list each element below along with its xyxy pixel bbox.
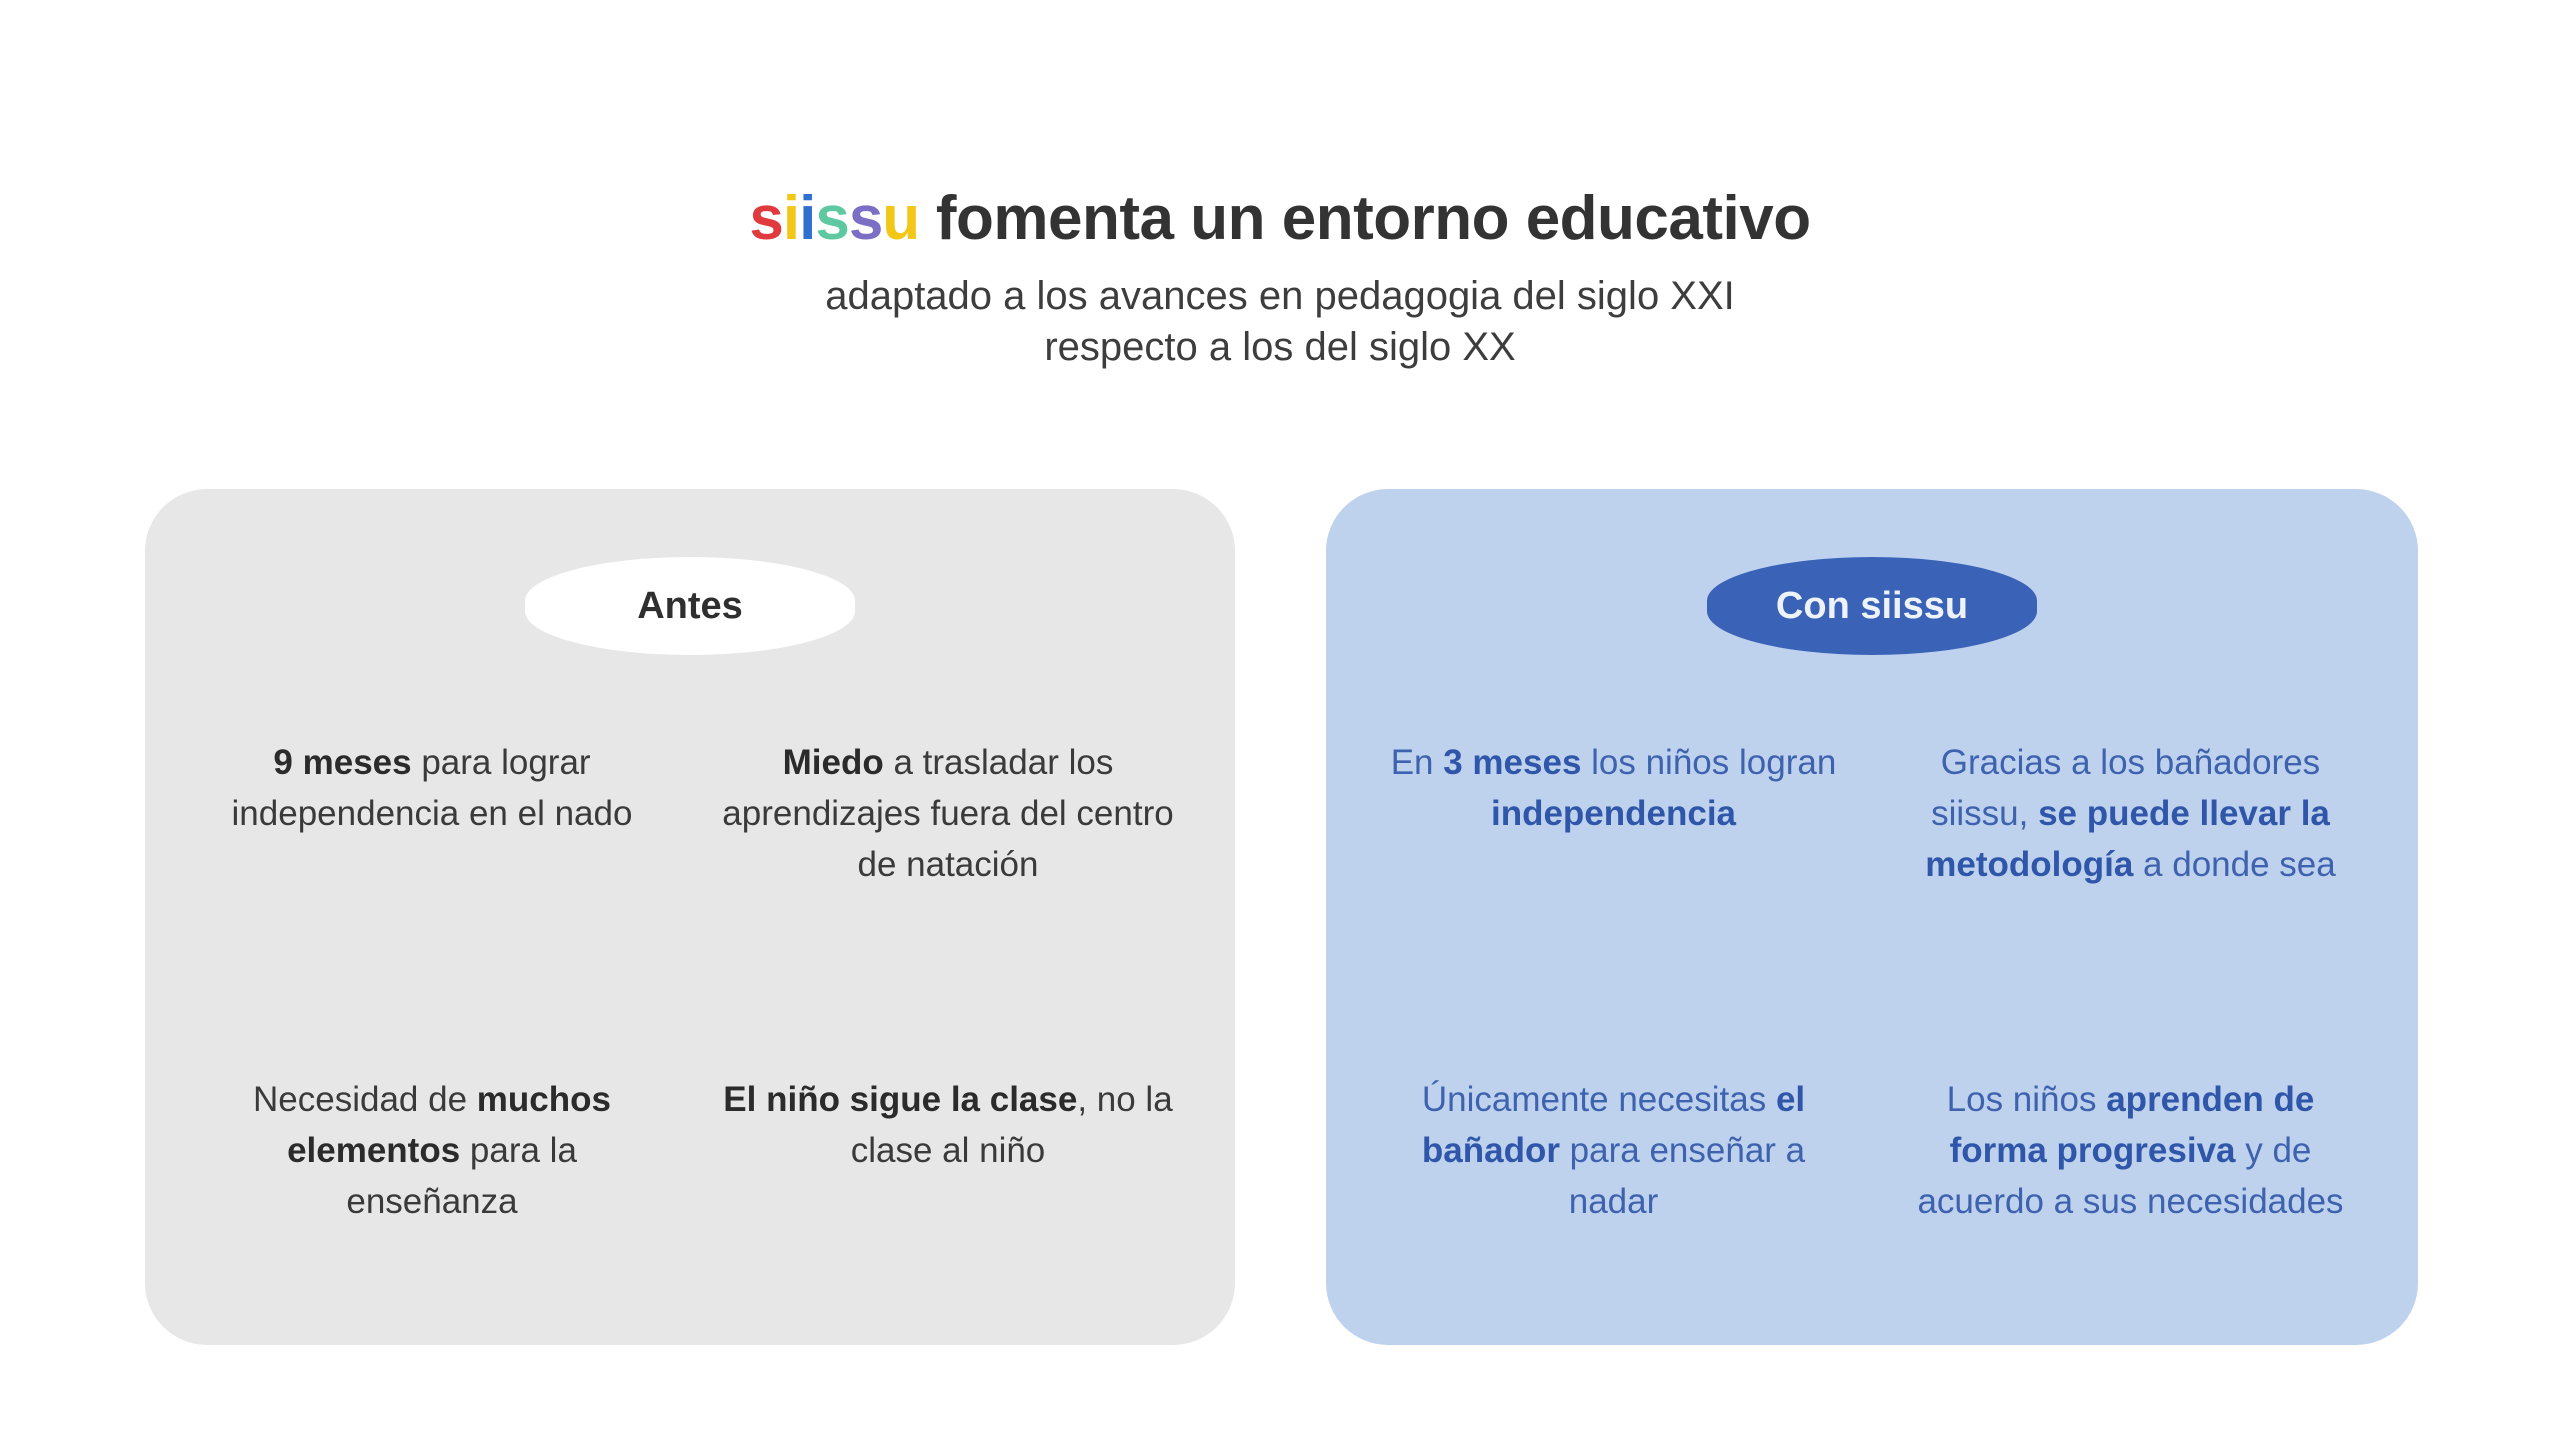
slide-canvas: siissu fomenta un entorno educativo adap… — [0, 0, 2560, 1440]
page-subtitle-line-1: adaptado a los avances en pedagogia del … — [0, 271, 2560, 322]
page-title-rest: fomenta un entorno educativo — [919, 184, 1810, 253]
card-antes: Antes 9 meses para lograr independencia … — [145, 489, 1235, 1345]
list-item: Los niños aprenden de forma progresiva y… — [1877, 1032, 2384, 1327]
list-item: El niño sigue la clase, no la clase al n… — [695, 1032, 1201, 1327]
card-con-siissu-pill-label: Con siissu — [1707, 557, 2037, 655]
page-subtitle: adaptado a los avances en pedagogia del … — [0, 271, 2560, 373]
item-independencia-9-meses: 9 meses para lograr independencia en el … — [197, 737, 667, 839]
list-item: Gracias a los bañadores siissu, se puede… — [1877, 737, 2384, 1032]
card-antes-items: 9 meses para lograr independencia en el … — [145, 737, 1235, 1327]
page-subtitle-line-2: respecto a los del siglo XX — [0, 322, 2560, 373]
card-con-siissu: Con siissu En 3 meses los niños logran i… — [1326, 489, 2418, 1345]
item-unicamente-banador: Únicamente necesitas el bañador para ens… — [1379, 1074, 1849, 1227]
header: siissu fomenta un entorno educativo adap… — [0, 186, 2560, 373]
comparison-cards: Antes 9 meses para lograr independencia … — [145, 489, 2418, 1349]
page-title: siissu fomenta un entorno educativo — [0, 186, 2560, 253]
list-item: Necesidad de muchos elementos para la en… — [179, 1032, 685, 1327]
item-muchos-elementos: Necesidad de muchos elementos para la en… — [197, 1074, 667, 1227]
siissu-logo-wordmark: siissu — [749, 184, 919, 253]
item-miedo-trasladar: Miedo a trasladar los aprendizajes fuera… — [713, 737, 1183, 890]
card-con-siissu-items: En 3 meses los niños logran independenci… — [1326, 737, 2418, 1327]
list-item: 9 meses para lograr independencia en el … — [179, 737, 685, 1032]
item-3-meses-independencia: En 3 meses los niños logran independenci… — [1379, 737, 1849, 839]
item-aprenden-progresiva: Los niños aprenden de forma progresiva y… — [1896, 1074, 2366, 1227]
list-item: Únicamente necesitas el bañador para ens… — [1360, 1032, 1867, 1327]
list-item: En 3 meses los niños logran independenci… — [1360, 737, 1867, 1032]
list-item: Miedo a trasladar los aprendizajes fuera… — [695, 737, 1201, 1032]
item-banadores-metodologia: Gracias a los bañadores siissu, se puede… — [1896, 737, 2366, 890]
card-antes-pill-label: Antes — [525, 557, 855, 655]
item-nino-sigue-clase: El niño sigue la clase, no la clase al n… — [713, 1074, 1183, 1176]
